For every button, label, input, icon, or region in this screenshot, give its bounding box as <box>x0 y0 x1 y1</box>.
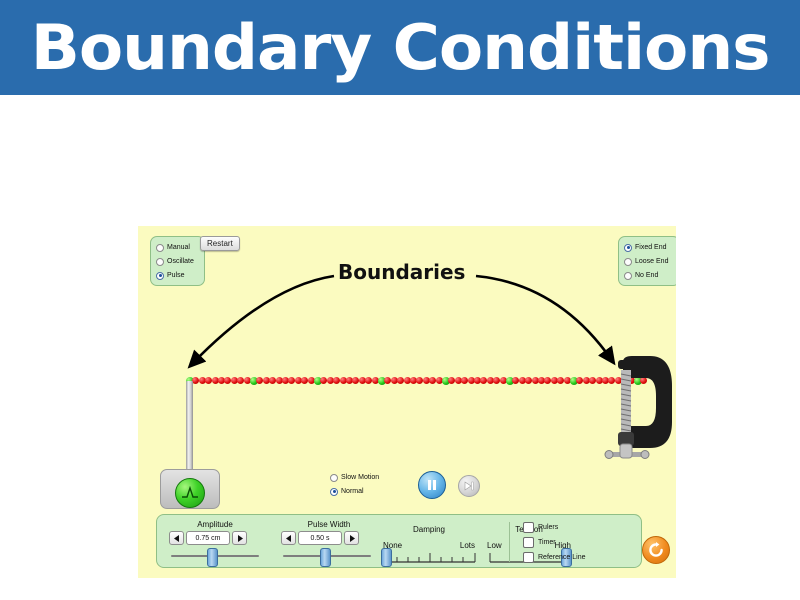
reset-circular-arrow-icon[interactable] <box>642 536 670 564</box>
damping-title: Damping <box>385 525 473 534</box>
page-title: Boundary Conditions <box>31 17 770 79</box>
amplitude-title: Amplitude <box>167 520 263 529</box>
checkbox-timer-label: Timer <box>538 539 556 546</box>
title-banner: Boundary Conditions <box>0 0 800 95</box>
speed-radio-group: Slow Motion Normal <box>330 470 390 498</box>
pulse-glyph <box>181 486 199 500</box>
pause-glyph <box>427 479 437 491</box>
pulse-width-increment-button[interactable] <box>344 531 359 545</box>
reset-glyph <box>648 542 664 558</box>
right-triangle-icon <box>237 535 243 542</box>
radio-slow-motion-indicator <box>330 474 338 482</box>
radio-slow-motion[interactable]: Slow Motion <box>330 471 390 484</box>
left-triangle-icon <box>174 535 180 542</box>
checkbox-timer-box <box>523 537 534 548</box>
step-glyph <box>464 481 474 491</box>
control-bar: Amplitude 0.75 cm Pulse Width 0.50 s <box>156 514 642 568</box>
checkbox-reference-line-box <box>523 552 534 563</box>
pulse-waveform-icon[interactable] <box>175 478 205 508</box>
damping-slider-knob[interactable] <box>381 548 392 567</box>
radio-slow-motion-label: Slow Motion <box>341 474 379 481</box>
pulse-width-value[interactable]: 0.50 s <box>298 531 342 545</box>
amplitude-decrement-button[interactable] <box>169 531 184 545</box>
checkbox-rulers-box <box>523 522 534 533</box>
checkbox-rulers[interactable]: Rulers <box>523 522 558 533</box>
annotation-label: Boundaries <box>338 260 465 284</box>
wave-simulation-panel: Manual Oscillate Pulse Restart Fixed End… <box>138 226 676 578</box>
pulse-width-stepper: 0.50 s <box>281 531 359 545</box>
amplitude-stepper: 0.75 cm <box>169 531 247 545</box>
checkbox-timer[interactable]: Timer <box>523 537 556 548</box>
right-triangle-icon <box>349 535 355 542</box>
amplitude-increment-button[interactable] <box>232 531 247 545</box>
left-triangle-icon <box>286 535 292 542</box>
step-forward-icon[interactable] <box>458 475 480 497</box>
playback-controls <box>418 471 488 501</box>
pause-icon[interactable] <box>418 471 446 499</box>
control-divider <box>509 522 510 562</box>
c-clamp-icon <box>590 356 676 476</box>
damping-max-label: Lots <box>447 541 475 550</box>
checkbox-rulers-label: Rulers <box>538 524 558 531</box>
pulse-width-decrement-button[interactable] <box>281 531 296 545</box>
pulse-width-title: Pulse Width <box>279 520 379 529</box>
wave-driver-post <box>186 381 193 477</box>
pulse-width-slider-knob[interactable] <box>320 548 331 567</box>
amplitude-slider-knob[interactable] <box>207 548 218 567</box>
radio-normal-label: Normal <box>341 488 364 495</box>
radio-normal-indicator <box>330 488 338 496</box>
checkbox-reference-line[interactable]: Reference Line <box>523 552 585 563</box>
checkbox-reference-line-label: Reference Line <box>538 554 585 561</box>
radio-normal[interactable]: Normal <box>330 485 390 498</box>
damping-ruler-scale[interactable] <box>385 551 477 565</box>
amplitude-value[interactable]: 0.75 cm <box>186 531 230 545</box>
